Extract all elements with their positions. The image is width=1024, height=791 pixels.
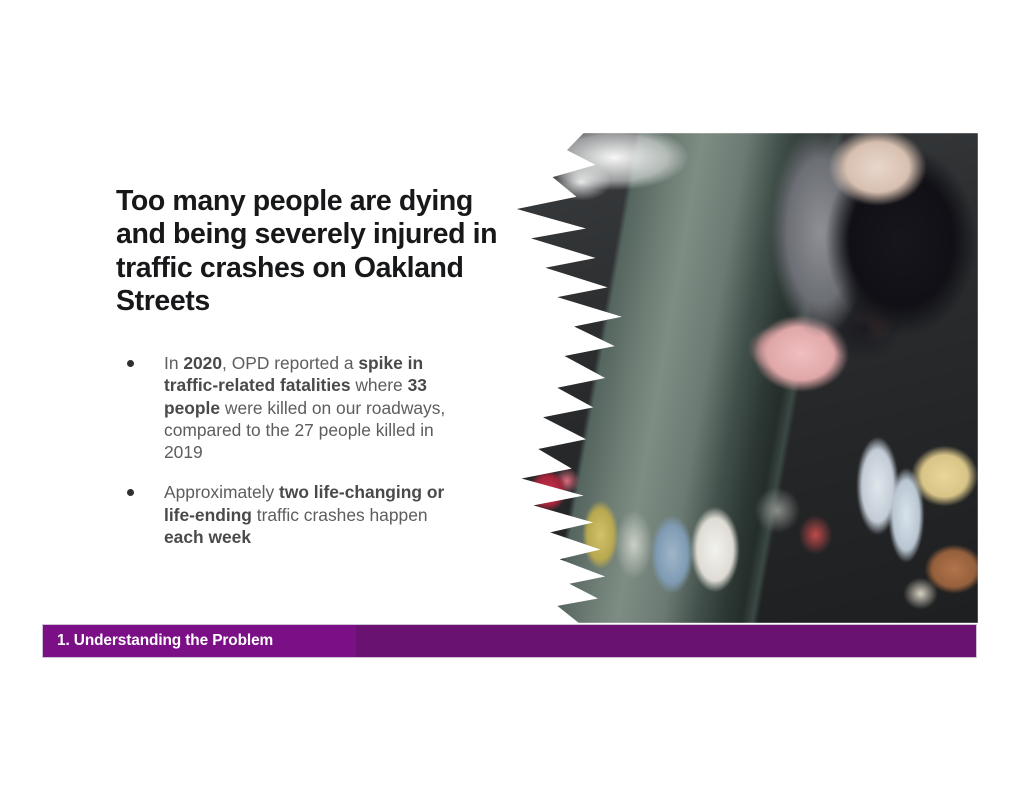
bullet-text: Approximately two life-changing or life-… [164,482,444,547]
bullet-text: In 2020, OPD reported a spike in traffic… [164,353,445,462]
memorial-photo-image [500,133,978,623]
footer-section-label: 1. Understanding the Problem [57,632,273,650]
slide: Too many people are dying and being seve… [0,0,1024,791]
footer-section-bar: 1. Understanding the Problem [42,624,977,658]
bullet-dot-icon [127,360,134,367]
page-title: Too many people are dying and being seve… [116,185,516,318]
bullet-dot-icon [127,489,134,496]
list-item: In 2020, OPD reported a spike in traffic… [120,352,472,463]
list-item: Approximately two life-changing or life-… [120,481,472,548]
memorial-photo [500,133,978,623]
bullet-list: In 2020, OPD reported a spike in traffic… [120,352,472,548]
